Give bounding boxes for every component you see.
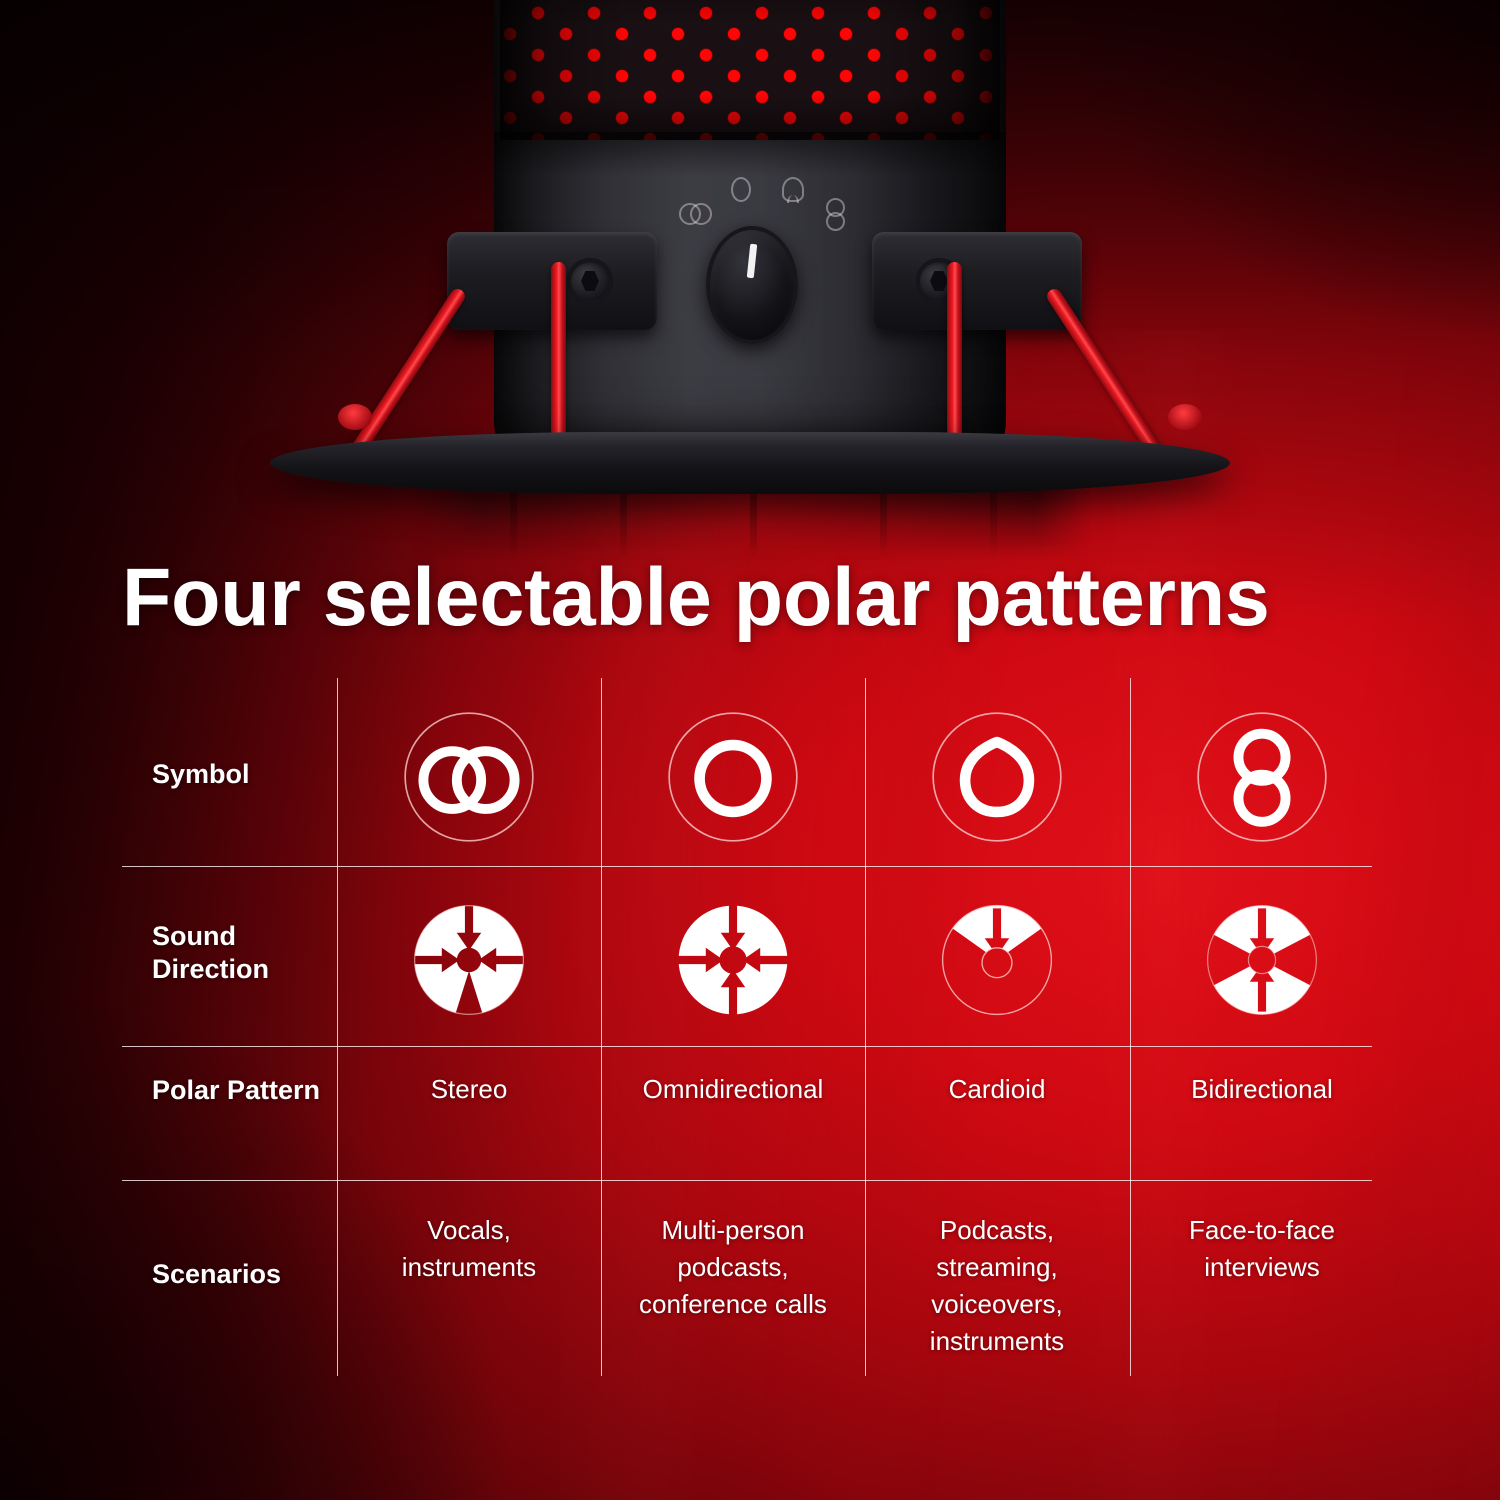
knob-indicator-line <box>747 244 758 279</box>
table-row-divider <box>122 866 1372 867</box>
stereo-sound-direction-icon <box>401 892 537 1028</box>
omnidirectional-sound-direction-icon <box>665 892 801 1028</box>
microphone-grille <box>500 0 1000 140</box>
cord-anchor-left <box>338 404 372 430</box>
polar-pattern-value-bidirectional: Bidirectional <box>1130 1074 1394 1105</box>
mic-omnidirectional-icon <box>731 177 751 202</box>
mic-cardioid-icon <box>782 177 804 202</box>
direction-cell-bidirectional <box>1130 874 1394 1046</box>
omnidirectional-ring-icon <box>657 701 809 853</box>
shock-mount-clamp-right <box>872 232 1082 330</box>
microphone-product-photo <box>0 0 1500 560</box>
direction-cell-omnidirectional <box>601 874 865 1046</box>
polar-pattern-value-cardioid: Cardioid <box>865 1074 1129 1105</box>
stereo-two-overlapping-circles-icon <box>393 701 545 853</box>
scenarios-value-bidirectional: Face-to-faceinterviews <box>1130 1212 1394 1286</box>
cardioid-heart-icon <box>921 701 1073 853</box>
bidirectional-figure-eight-icon <box>1186 701 1338 853</box>
row-label-polar-pattern: Polar Pattern <box>152 1074 342 1107</box>
microphone-body-shading <box>494 132 1006 176</box>
mic-stereo-icon-second-ring <box>690 203 712 225</box>
scenarios-value-omnidirectional: Multi-personpodcasts,conference calls <box>601 1212 865 1323</box>
hex-screw-icon <box>567 258 613 304</box>
shock-mount-cord-right-vertical <box>947 262 962 448</box>
polar-pattern-knob[interactable] <box>706 226 798 344</box>
mic-bidirectional-icon-second-ring <box>826 212 845 231</box>
direction-cell-stereo <box>337 874 601 1046</box>
scenarios-value-cardioid: Podcasts,streaming,voiceovers,instrument… <box>865 1212 1129 1360</box>
polar-pattern-value-stereo: Stereo <box>337 1074 601 1105</box>
polar-pattern-value-omnidirectional: Omnidirectional <box>601 1074 865 1105</box>
symbol-cell-omnidirectional <box>601 688 865 866</box>
cord-anchor-right <box>1168 404 1202 430</box>
grille-shading <box>500 0 1000 140</box>
microphone-base-plate <box>270 432 1230 494</box>
bidirectional-sound-direction-icon <box>1194 892 1330 1028</box>
row-label-sound-direction: Sound Direction <box>152 920 342 986</box>
page-title: Four selectable polar patterns <box>122 556 1393 640</box>
symbol-cell-bidirectional <box>1130 688 1394 866</box>
polar-pattern-comparison-table: Symbol Sound Direction Polar Pattern Sce… <box>122 678 1372 1376</box>
marketing-infographic: Four selectable polar patterns Symbol So… <box>0 0 1500 1500</box>
scenarios-value-stereo: Vocals,instruments <box>337 1212 601 1286</box>
table-row-divider <box>122 1046 1372 1047</box>
row-label-symbol: Symbol <box>152 758 342 791</box>
symbol-cell-stereo <box>337 688 601 866</box>
symbol-cell-cardioid <box>865 688 1129 866</box>
shock-mount-cord-left-vertical <box>551 262 566 448</box>
table-row-divider <box>122 1180 1372 1181</box>
cardioid-sound-direction-icon <box>929 892 1065 1028</box>
row-label-scenarios: Scenarios <box>152 1258 342 1291</box>
direction-cell-cardioid <box>865 874 1129 1046</box>
